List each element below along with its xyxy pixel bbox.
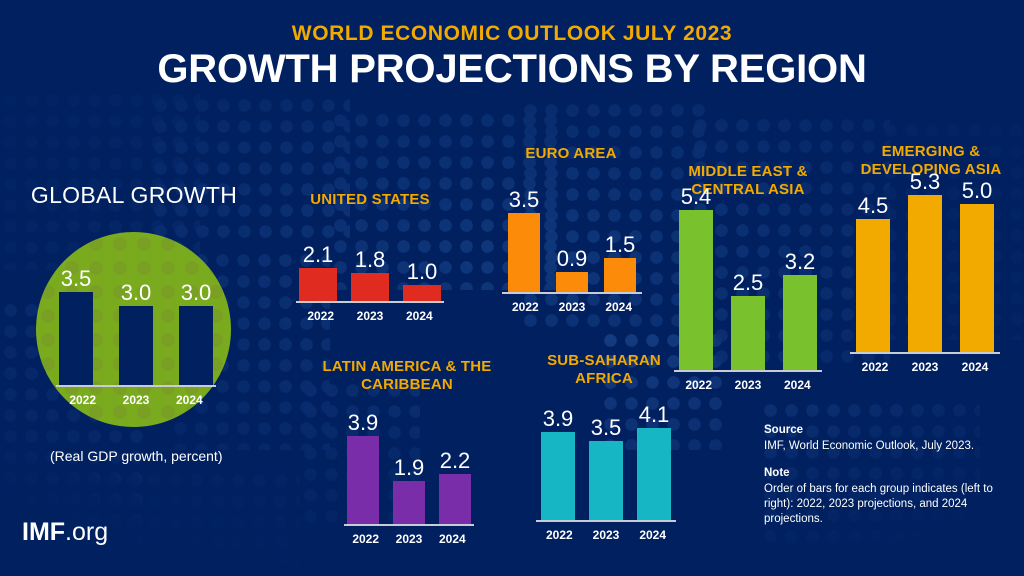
axis-tick-label: 2022 <box>543 528 576 542</box>
axis-tick-label: 2022 <box>351 532 380 546</box>
panel-title-euro-area: EURO AREA <box>496 145 646 163</box>
bar-rect <box>439 474 471 524</box>
panel-title-lac-line1: LATIN AMERICA & THE <box>312 358 502 376</box>
bar-item: 3.2 <box>783 251 817 370</box>
bar-value-label: 3.9 <box>348 412 379 434</box>
axis-tick-label: 2023 <box>122 393 149 407</box>
bar-item: 2.2 <box>439 450 471 524</box>
axis-line-ssa <box>536 520 676 522</box>
axis-tick-label: 2023 <box>394 532 423 546</box>
bar-group-asia: 4.55.35.0 <box>850 186 1000 352</box>
bar-rect <box>347 436 379 524</box>
axis-line-us <box>296 301 444 303</box>
chart-global-growth: 3.53.03.0 202220232024 <box>56 237 216 407</box>
panel-title-meca-line1: MIDDLE EAST & <box>668 163 828 181</box>
bar-rect <box>393 481 425 524</box>
bar-item: 3.5 <box>59 268 93 385</box>
tick-group-euro: 202220232024 <box>502 300 642 314</box>
tick-group-asia: 202220232024 <box>850 360 1000 374</box>
bar-value-label: 3.9 <box>543 408 574 430</box>
tick-group-ssa: 202220232024 <box>536 528 676 542</box>
bar-group-lac: 3.91.92.2 <box>344 398 474 524</box>
panel-latin-america-caribbean: LATIN AMERICA & THE CARIBBEAN <box>312 358 502 394</box>
page-title: GROWTH PROJECTIONS BY REGION <box>0 47 1024 92</box>
bar-value-label: 2.1 <box>303 244 334 266</box>
axis-line-global <box>56 385 216 387</box>
axis-tick-label: 2023 <box>352 309 387 323</box>
note-label: Note <box>764 467 1014 479</box>
tick-group-global: 202220232024 <box>56 393 216 407</box>
axis-tick-label: 2024 <box>782 378 813 392</box>
bar-value-label: 1.0 <box>407 261 438 283</box>
bar-rect <box>960 204 994 352</box>
bar-item: 5.0 <box>960 180 994 352</box>
bar-rect <box>119 306 153 385</box>
bar-item: 3.9 <box>347 412 379 524</box>
chart-united-states: 2.11.81.0 202220232024 <box>296 213 444 323</box>
bar-item: 5.4 <box>679 186 713 370</box>
bar-item: 3.0 <box>179 282 213 385</box>
axis-tick-label: 2022 <box>69 393 96 407</box>
axis-line-asia <box>850 352 1000 354</box>
bar-rect <box>541 432 575 520</box>
bar-rect <box>59 292 93 385</box>
bar-item: 4.1 <box>637 404 671 520</box>
bar-item: 2.5 <box>731 272 765 370</box>
bar-rect <box>679 210 713 370</box>
panel-euro-area: EURO AREA <box>496 145 646 163</box>
panel-title-asia-line1: EMERGING & <box>846 143 1016 161</box>
bar-item: 3.9 <box>541 408 575 520</box>
bar-value-label: 0.9 <box>557 248 588 270</box>
axis-tick-label: 2022 <box>859 360 891 374</box>
bar-group-euro: 3.50.91.5 <box>502 166 642 292</box>
chart-euro-area: 3.50.91.5 202220232024 <box>502 166 642 314</box>
infographic-canvas: WORLD ECONOMIC OUTLOOK JULY 2023 GROWTH … <box>0 0 1024 576</box>
axis-tick-label: 2024 <box>603 300 634 314</box>
bar-group-meca: 5.42.53.2 <box>674 204 822 370</box>
chart-emerging-developing-asia: 4.55.35.0 202220232024 <box>850 186 1000 374</box>
bar-item: 5.3 <box>908 171 942 352</box>
axis-line-lac <box>344 524 474 526</box>
bar-value-label: 4.5 <box>858 195 889 217</box>
bar-value-label: 3.5 <box>61 268 92 290</box>
axis-line-meca <box>674 370 822 372</box>
bar-rect <box>589 441 623 520</box>
kicker-text: WORLD ECONOMIC OUTLOOK JULY 2023 <box>0 22 1024 46</box>
source-text: IMF, World Economic Outlook, July 2023. <box>764 439 1014 454</box>
bar-item: 2.1 <box>299 244 337 301</box>
source-label: Source <box>764 424 1014 436</box>
bar-item: 0.9 <box>556 248 588 292</box>
panel-title-ssa-line2: AFRICA <box>524 370 684 388</box>
bar-rect <box>351 273 389 301</box>
bar-rect <box>908 195 942 352</box>
bar-value-label: 2.2 <box>440 450 471 472</box>
bar-rect <box>637 428 671 520</box>
footnotes-block: Source IMF, World Economic Outlook, July… <box>764 424 1014 540</box>
panel-title-global-growth: GLOBAL GROWTH <box>16 186 252 204</box>
axis-line-euro <box>502 292 642 294</box>
axis-tick-label: 2022 <box>683 378 714 392</box>
bar-group-us: 2.11.81.0 <box>296 213 444 301</box>
axis-tick-label: 2022 <box>510 300 541 314</box>
bar-rect <box>731 296 765 370</box>
bar-rect <box>783 275 817 370</box>
logo-org-text: .org <box>65 518 108 546</box>
axis-tick-label: 2023 <box>590 528 623 542</box>
bar-item: 3.0 <box>119 282 153 385</box>
panel-united-states: UNITED STATES <box>286 191 454 209</box>
bar-value-label: 5.3 <box>910 171 941 193</box>
bar-value-label: 1.5 <box>605 234 636 256</box>
bar-value-label: 5.0 <box>962 180 993 202</box>
bar-value-label: 3.5 <box>509 189 540 211</box>
bar-rect <box>403 285 441 301</box>
axis-tick-label: 2023 <box>909 360 941 374</box>
bar-rect <box>299 268 337 301</box>
bar-item: 3.5 <box>589 417 623 520</box>
bar-value-label: 3.0 <box>121 282 152 304</box>
bar-value-label: 1.8 <box>355 249 386 271</box>
panel-title-ssa-line1: SUB-SAHARAN <box>524 352 684 370</box>
bar-value-label: 3.0 <box>181 282 212 304</box>
bar-rect <box>556 272 588 292</box>
bar-rect <box>604 258 636 292</box>
axis-tick-label: 2024 <box>438 532 467 546</box>
bar-value-label: 1.9 <box>394 457 425 479</box>
bar-value-label: 4.1 <box>639 404 670 426</box>
bar-rect <box>856 219 890 352</box>
bar-value-label: 2.5 <box>733 272 764 294</box>
panel-title-lac-line2: CARIBBEAN <box>312 376 502 394</box>
bar-value-label: 3.2 <box>785 251 816 273</box>
logo-imf-text: IMF <box>22 518 65 546</box>
axis-tick-label: 2024 <box>959 360 991 374</box>
bar-value-label: 5.4 <box>681 186 712 208</box>
bar-rect <box>508 213 540 292</box>
tick-group-us: 202220232024 <box>296 309 444 323</box>
axis-tick-label: 2024 <box>176 393 203 407</box>
bar-item: 1.0 <box>403 261 441 301</box>
tick-group-lac: 202220232024 <box>344 532 474 546</box>
global-growth-caption: (Real GDP growth, percent) <box>50 448 222 464</box>
axis-tick-label: 2023 <box>557 300 588 314</box>
bar-rect <box>179 306 213 385</box>
chart-sub-saharan-africa: 3.93.54.1 202220232024 <box>536 394 676 542</box>
bar-item: 1.8 <box>351 249 389 301</box>
chart-latin-america-caribbean: 3.91.92.2 202220232024 <box>344 398 474 546</box>
axis-tick-label: 2023 <box>732 378 763 392</box>
imf-logo[interactable]: IMF.org <box>22 518 108 547</box>
note-text: Order of bars for each group indicates (… <box>764 482 1014 527</box>
tick-group-meca: 202220232024 <box>674 378 822 392</box>
bar-item: 1.9 <box>393 457 425 524</box>
axis-tick-label: 2024 <box>402 309 437 323</box>
bar-item: 4.5 <box>856 195 890 352</box>
bar-item: 3.5 <box>508 189 540 292</box>
bar-item: 1.5 <box>604 234 636 292</box>
bar-group-global: 3.53.03.0 <box>56 237 216 385</box>
panel-sub-saharan-africa: SUB-SAHARAN AFRICA <box>524 352 684 388</box>
panel-global-growth: GLOBAL GROWTH <box>16 186 252 204</box>
bar-value-label: 3.5 <box>591 417 622 439</box>
bar-group-ssa: 3.93.54.1 <box>536 394 676 520</box>
panel-title-united-states: UNITED STATES <box>286 191 454 209</box>
chart-middle-east-central-asia: 5.42.53.2 202220232024 <box>674 204 822 392</box>
axis-tick-label: 2024 <box>636 528 669 542</box>
axis-tick-label: 2022 <box>303 309 338 323</box>
